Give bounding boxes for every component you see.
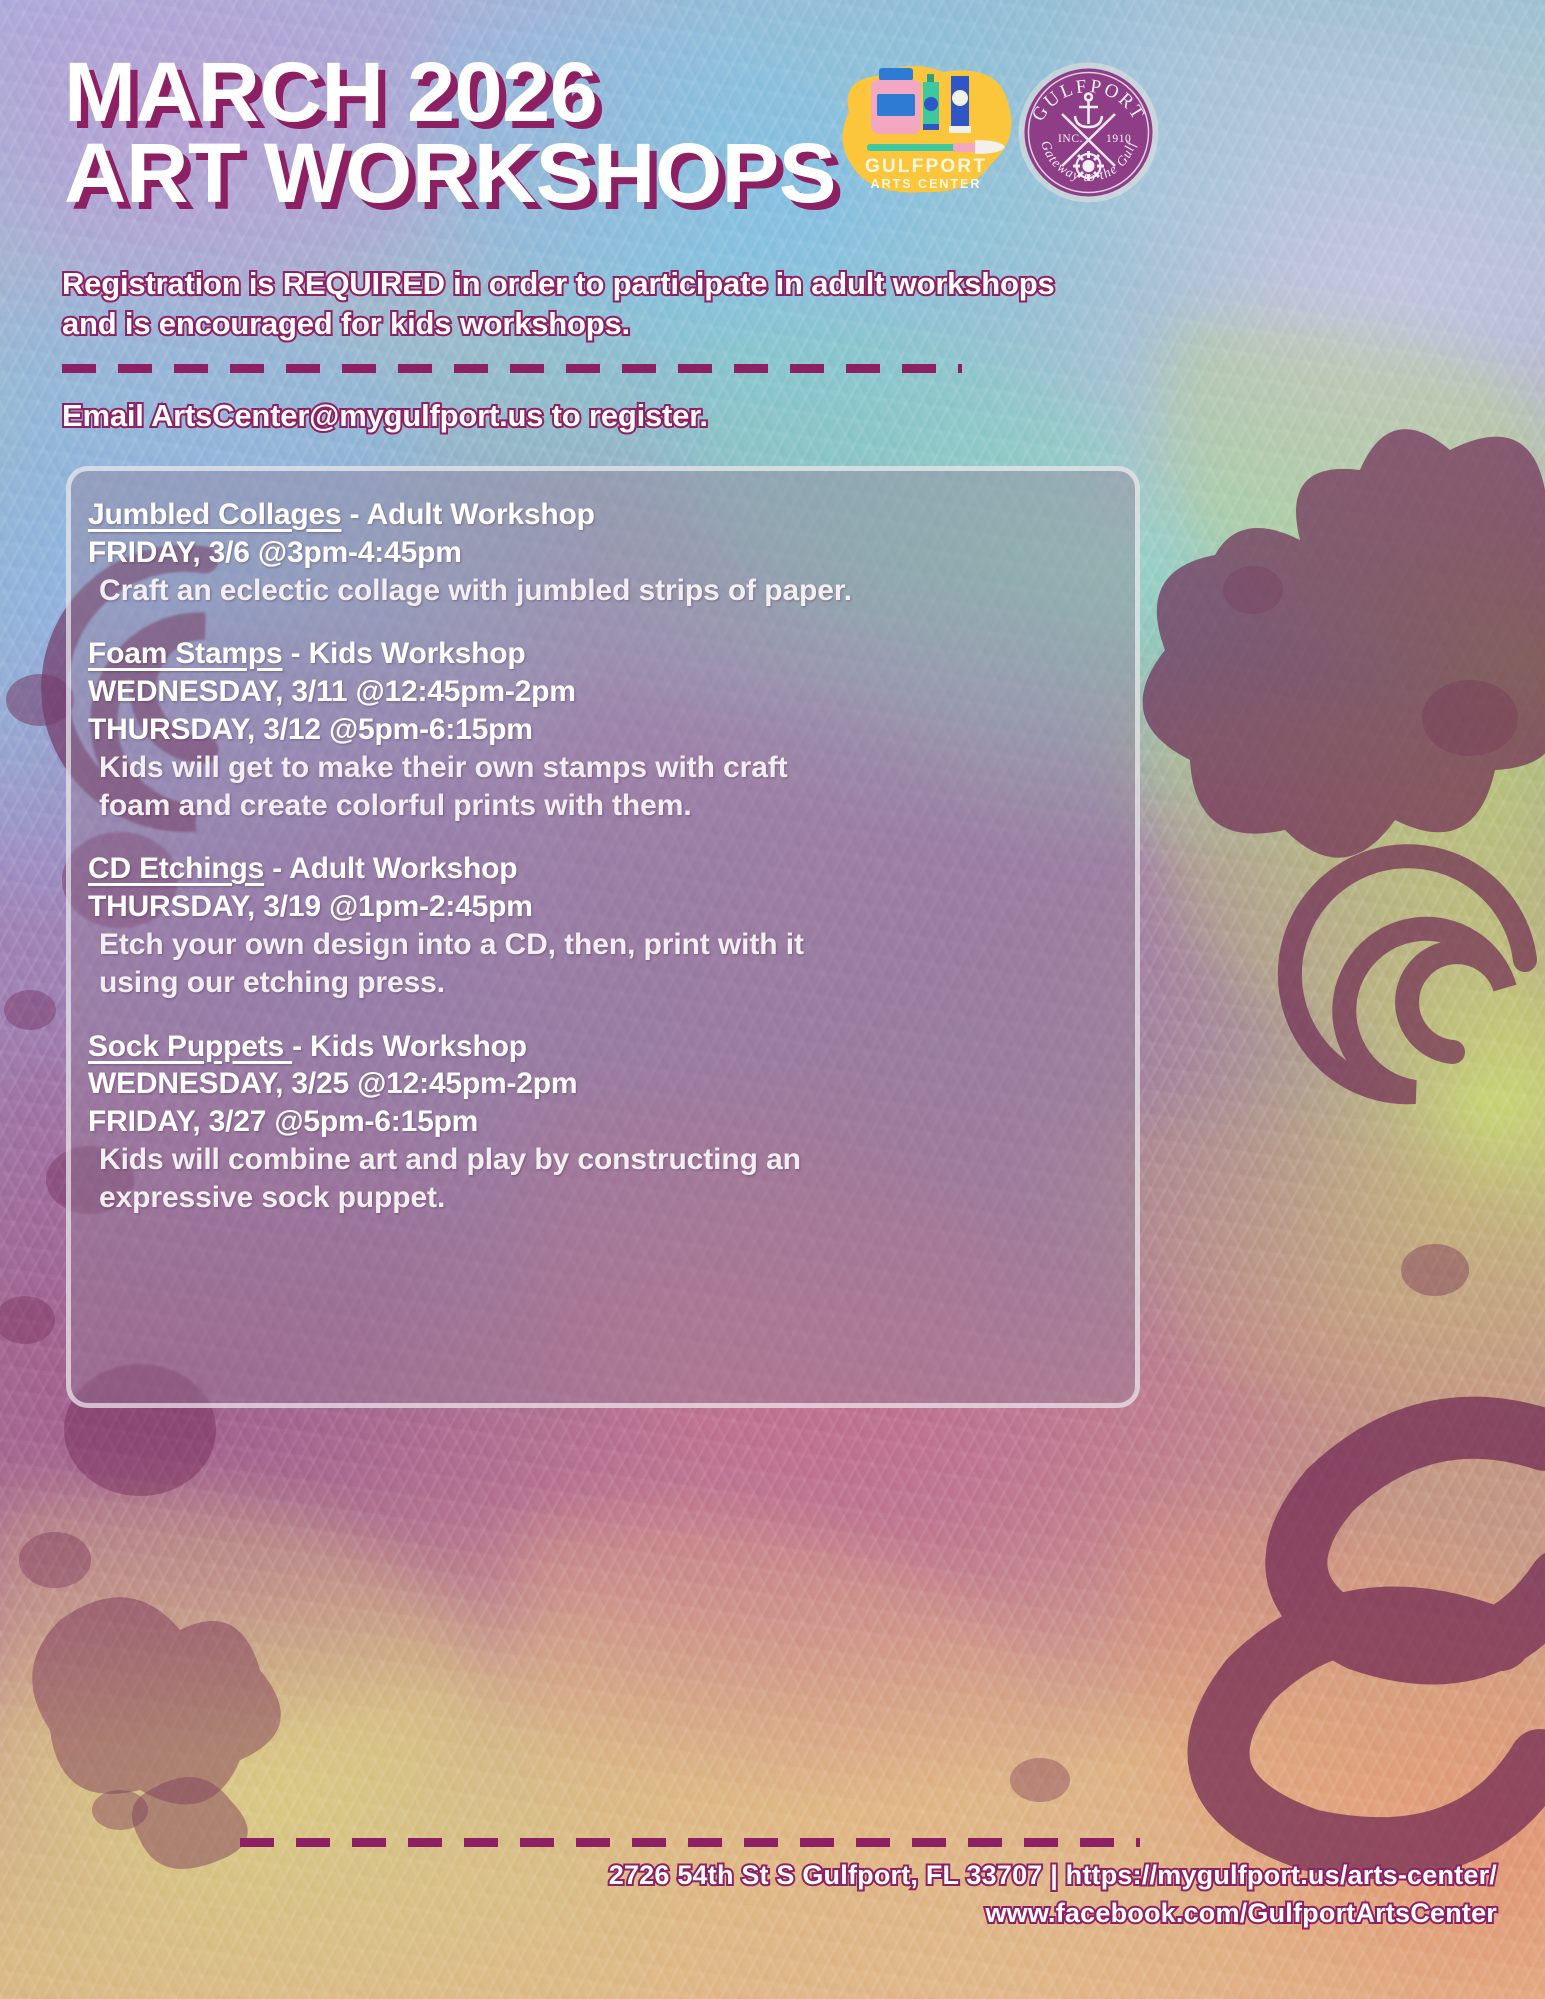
workshop-heading: CD Etchings - Adult Workshop bbox=[88, 850, 1112, 888]
workshop-item: Jumbled Collages - Adult Workshop FRIDAY… bbox=[88, 496, 1112, 609]
workshop-description-line: foam and create colorful prints with the… bbox=[88, 787, 1112, 825]
seal-left-text: INC. bbox=[1058, 133, 1083, 145]
gulfport-arts-center-logo: GULFPORT ARTS CENTER bbox=[831, 52, 1021, 200]
workshop-item: Sock Puppets - Kids Workshop WEDNESDAY, … bbox=[88, 1028, 1112, 1217]
workshops-list: Jumbled Collages - Adult Workshop FRIDAY… bbox=[66, 466, 1140, 1408]
workshop-item: Foam Stamps - Kids Workshop WEDNESDAY, 3… bbox=[88, 635, 1112, 824]
footer-address-line[interactable]: 2726 54th St S Gulfport, FL 33707 | http… bbox=[0, 1856, 1497, 1894]
seal-right-text: 1910 bbox=[1106, 133, 1131, 145]
workshop-item: CD Etchings - Adult Workshop THURSDAY, 3… bbox=[88, 850, 1112, 1001]
green-paint-tube-icon bbox=[923, 74, 939, 130]
workshop-date: WEDNESDAY, 3/11 @12:45pm-2pm bbox=[88, 673, 1112, 711]
registration-notice: Registration is REQUIRED in order to par… bbox=[62, 264, 1072, 343]
workshop-audience: - Kids Workshop bbox=[292, 1030, 527, 1063]
workshop-date: WEDNESDAY, 3/25 @12:45pm-2pm bbox=[88, 1065, 1112, 1103]
workshop-name: Jumbled Collages bbox=[88, 498, 342, 531]
workshop-description-line: expressive sock puppet. bbox=[88, 1179, 1112, 1217]
divider-dashed-top bbox=[62, 364, 962, 373]
logo-name: GULFPORT bbox=[865, 156, 987, 177]
workshop-description-line: using our etching press. bbox=[88, 964, 1112, 1002]
workshop-description-line: Etch your own design into a CD, then, pr… bbox=[88, 926, 1112, 964]
workshop-description-line: Craft an eclectic collage with jumbled s… bbox=[88, 572, 1112, 610]
workshop-heading: Jumbled Collages - Adult Workshop bbox=[88, 496, 1112, 534]
workshop-heading: Sock Puppets - Kids Workshop bbox=[88, 1028, 1112, 1066]
workshop-name: CD Etchings bbox=[88, 852, 264, 885]
page-title: MARCH 2026 ART WORKSHOPS bbox=[64, 52, 836, 215]
gulfport-city-seal: GULFPORT Gateway to the Gulf INC. 1910 bbox=[1018, 62, 1159, 203]
workshop-description-line: Kids will combine art and play by constr… bbox=[88, 1141, 1112, 1179]
registration-email-line: Email ArtsCenter@mygulfport.us to regist… bbox=[62, 398, 708, 434]
flyer-footer: 2726 54th St S Gulfport, FL 33707 | http… bbox=[0, 1856, 1545, 1933]
workshop-description-line: Kids will get to make their own stamps w… bbox=[88, 749, 1112, 787]
workshop-date: THURSDAY, 3/19 @1pm-2:45pm bbox=[88, 888, 1112, 926]
workshop-audience: - Adult Workshop bbox=[264, 852, 517, 885]
logo-subtitle: ARTS CENTER bbox=[871, 177, 982, 191]
workshop-heading: Foam Stamps - Kids Workshop bbox=[88, 635, 1112, 673]
workshop-audience: - Adult Workshop bbox=[342, 498, 595, 531]
workshop-date: FRIDAY, 3/6 @3pm-4:45pm bbox=[88, 534, 1112, 572]
footer-facebook-line[interactable]: www.facebook.com/GulfportArtsCenter bbox=[0, 1894, 1497, 1932]
divider-dashed-bottom bbox=[240, 1838, 1140, 1847]
blue-paint-tube-icon bbox=[949, 76, 971, 133]
workshop-name: Sock Puppets bbox=[88, 1030, 292, 1063]
workshop-name: Foam Stamps bbox=[88, 637, 283, 670]
workshop-audience: - Kids Workshop bbox=[283, 637, 526, 670]
workshop-date: FRIDAY, 3/27 @5pm-6:15pm bbox=[88, 1103, 1112, 1141]
workshop-date: THURSDAY, 3/12 @5pm-6:15pm bbox=[88, 711, 1112, 749]
